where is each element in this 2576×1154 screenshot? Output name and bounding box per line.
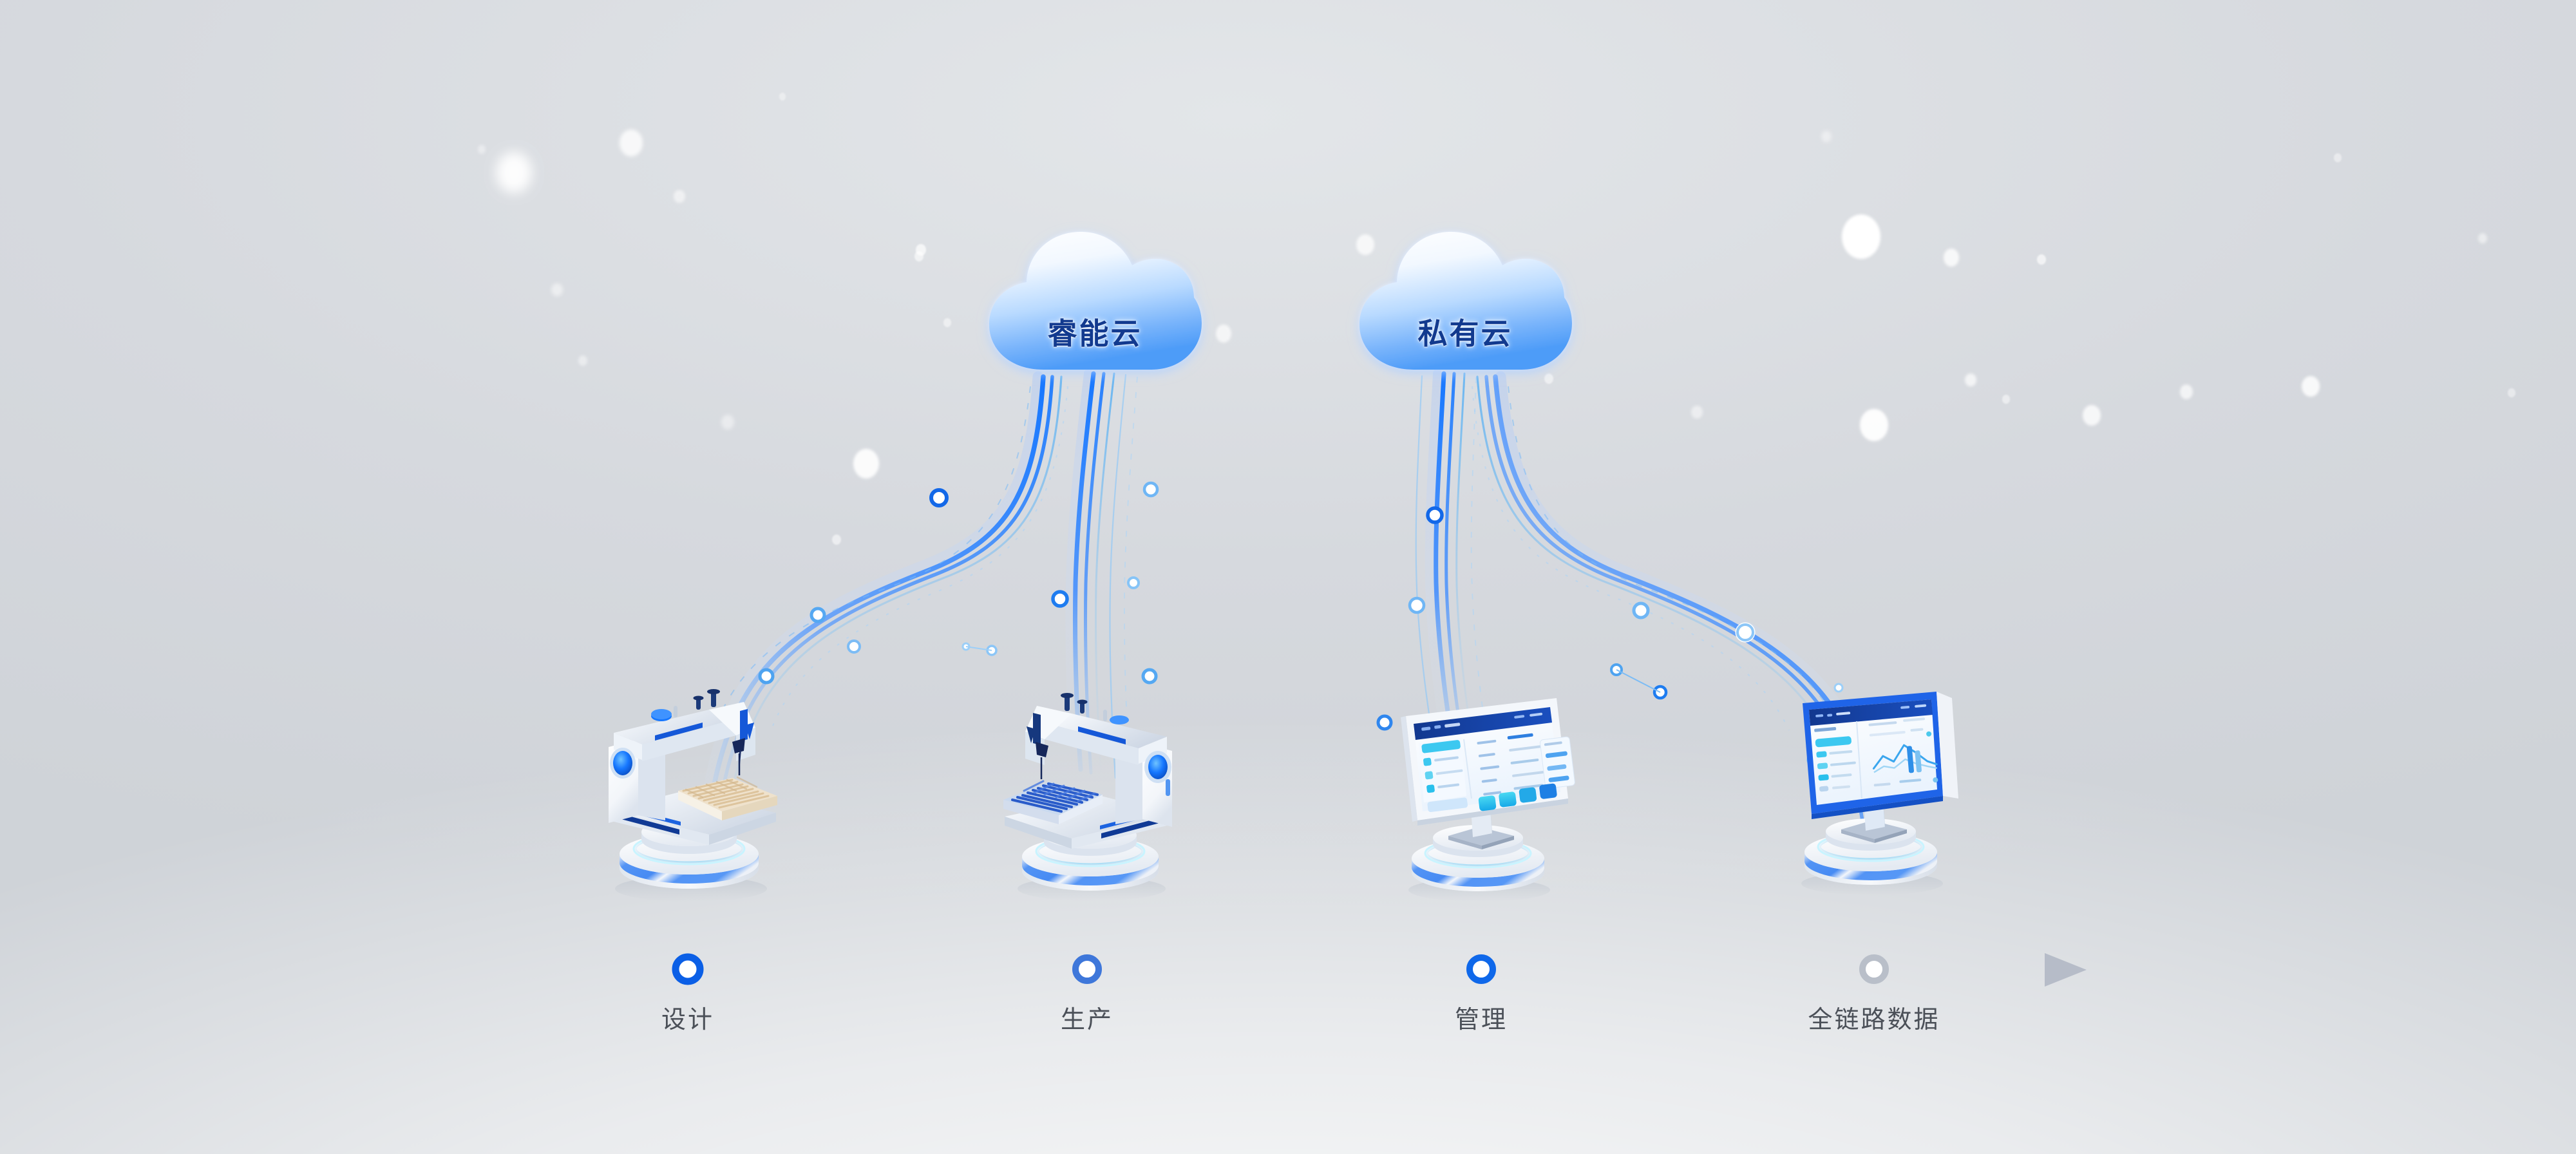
bokeh-dot xyxy=(1691,406,1703,419)
object-design-embroidery-machine[interactable] xyxy=(583,663,795,902)
bokeh-dot xyxy=(478,145,486,154)
bokeh-dot xyxy=(916,244,926,256)
bokeh-dot xyxy=(914,251,923,261)
timeline-step-fullchain[interactable] xyxy=(1862,958,1886,981)
bokeh-dot xyxy=(2302,376,2320,397)
bokeh-dot xyxy=(2508,388,2515,397)
process-timeline xyxy=(0,0,2576,1154)
bokeh-dot xyxy=(2083,405,2101,426)
bokeh-dot xyxy=(1821,131,1832,142)
timeline-label-management: 管理 xyxy=(1455,999,1508,1035)
bokeh-dot xyxy=(853,449,879,478)
bokeh-dot xyxy=(2037,254,2046,265)
object-fullchain-monitor[interactable] xyxy=(1774,670,1974,895)
timeline-label-fullchain: 全链路数据 xyxy=(1808,999,1940,1035)
bokeh-dot xyxy=(674,190,685,203)
scene-root: 睿能云 私有云 xyxy=(0,0,2576,1154)
bokeh-dot xyxy=(1842,214,1880,259)
bokeh-dot xyxy=(779,93,786,100)
object-production-sewing-machine[interactable] xyxy=(985,670,1198,902)
cloud-private[interactable]: 私有云 xyxy=(1354,227,1576,375)
bokeh-dot xyxy=(620,129,643,156)
bokeh-dot xyxy=(578,355,587,366)
data-stream-layer xyxy=(0,0,2576,1154)
bokeh-dot xyxy=(1544,374,1553,384)
bokeh-dot xyxy=(1860,409,1888,442)
bokeh-dot xyxy=(1216,325,1231,343)
cloud-ruineng[interactable]: 睿能云 xyxy=(984,227,1206,375)
timeline-label-design: 设计 xyxy=(661,999,714,1035)
bokeh-dot xyxy=(1944,249,1959,267)
timeline-step-management[interactable] xyxy=(1470,958,1493,981)
bokeh-dot xyxy=(496,152,532,193)
cloud-private-label: 私有云 xyxy=(1354,310,1576,353)
bokeh-dot xyxy=(1965,374,1976,387)
bokeh-dot xyxy=(551,283,563,297)
bokeh-dot xyxy=(2002,395,2010,404)
timeline-step-production[interactable] xyxy=(1075,958,1099,981)
timeline-arrow-head xyxy=(2045,953,2087,987)
bokeh-dot xyxy=(832,534,841,545)
bokeh-dot xyxy=(2334,153,2342,162)
timeline-label-production: 生产 xyxy=(1061,999,1113,1035)
bokeh-dot xyxy=(943,318,951,327)
cloud-ruineng-label: 睿能云 xyxy=(984,310,1206,353)
bokeh-dot xyxy=(2478,233,2487,243)
bokeh-dot xyxy=(721,415,734,430)
bokeh-dot xyxy=(2180,384,2193,399)
object-management-monitor[interactable] xyxy=(1381,676,1581,902)
timeline-step-design[interactable] xyxy=(676,957,700,981)
